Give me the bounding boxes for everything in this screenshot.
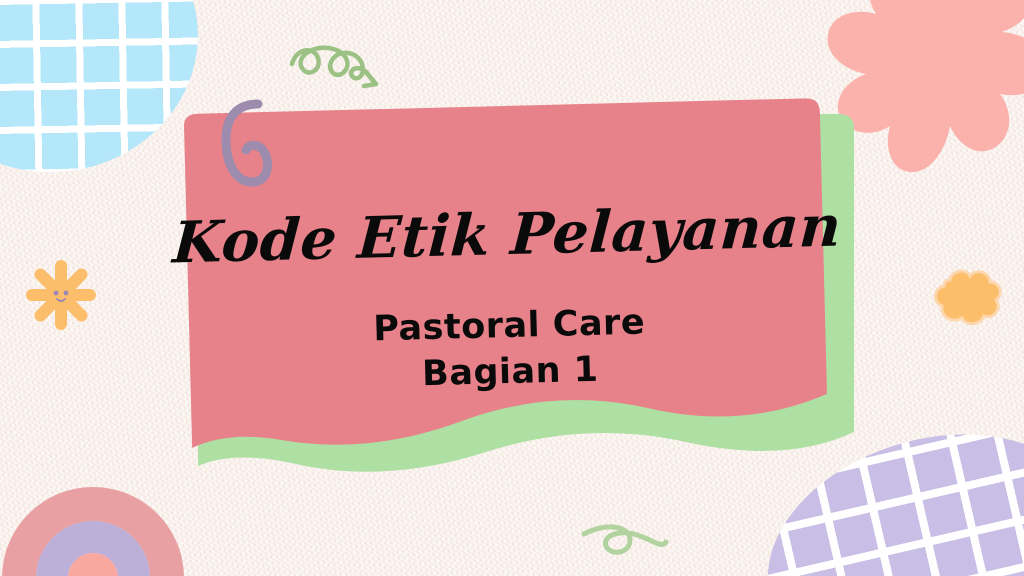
rainbow-arc-decoration <box>0 443 188 576</box>
orange-cloud-blob-icon <box>928 266 1004 328</box>
green-curly-arrow-icon <box>286 22 396 98</box>
green-loop-squiggle-icon <box>576 512 682 572</box>
yellow-sparkle-flower-icon <box>24 258 98 332</box>
slide-canvas: Kode Etik Pelayanan Pastoral Care Bagian… <box>0 0 1024 576</box>
paperclip-icon <box>212 92 282 197</box>
